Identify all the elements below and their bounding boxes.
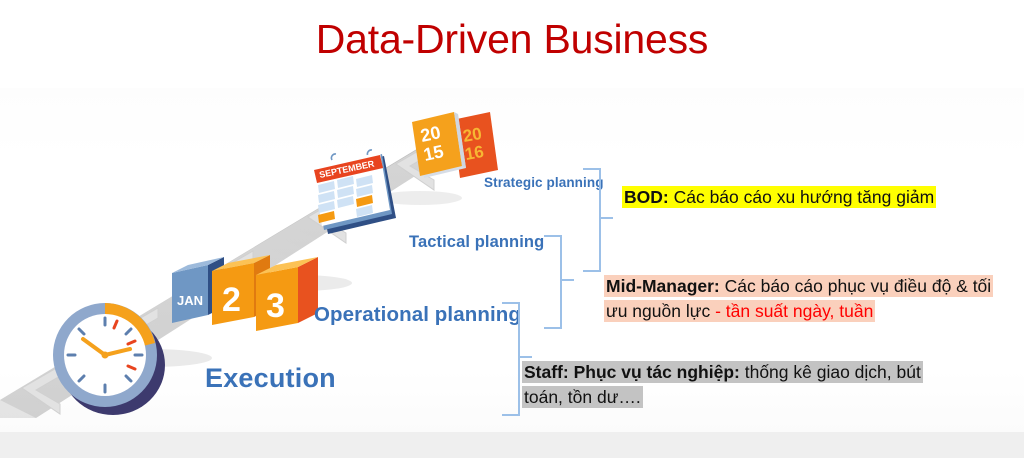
page-title: Data-Driven Business: [0, 16, 1024, 63]
bracket-strategic-tick: [599, 217, 613, 219]
label-operational-planning: Operational planning: [314, 303, 521, 327]
bracket-operational-tick: [518, 356, 532, 358]
label-execution: Execution: [205, 363, 336, 394]
callout-bod: BOD: Các báo cáo xu hướng tăng giảm: [622, 185, 982, 210]
clock-icon: [47, 297, 169, 419]
svg-text:JAN: JAN: [177, 293, 203, 308]
label-tactical-planning: Tactical planning: [409, 233, 544, 252]
callout-mid-accent: - tần suất ngày, tuần: [715, 301, 873, 321]
svg-text:16: 16: [463, 142, 485, 164]
calendar-icon: SEPTEMBER: [306, 148, 402, 238]
svg-text:2: 2: [222, 281, 241, 319]
background-band-bottom: [0, 432, 1024, 458]
callout-staff-prefix: Staff: Phục vụ tác nghiệp:: [524, 362, 740, 382]
callout-mid-prefix: Mid-Manager:: [606, 276, 720, 296]
svg-text:3: 3: [266, 287, 285, 325]
callout-mid-manager: Mid-Manager: Các báo cáo phục vụ điều độ…: [604, 274, 1004, 324]
bracket-strategic: [583, 168, 601, 272]
slide-canvas: Data-Driven Business: [0, 0, 1024, 458]
callout-bod-prefix: BOD:: [624, 187, 669, 207]
bracket-operational: [502, 302, 520, 416]
date-cubes-group: JAN 2 3: [168, 243, 328, 333]
callout-staff: Staff: Phục vụ tác nghiệp: thống kê giao…: [522, 360, 942, 410]
svg-text:15: 15: [422, 141, 446, 165]
bracket-tactical-tick: [560, 279, 574, 281]
bracket-tactical: [544, 235, 562, 329]
callout-bod-body: Các báo cáo xu hướng tăng giảm: [669, 187, 934, 207]
